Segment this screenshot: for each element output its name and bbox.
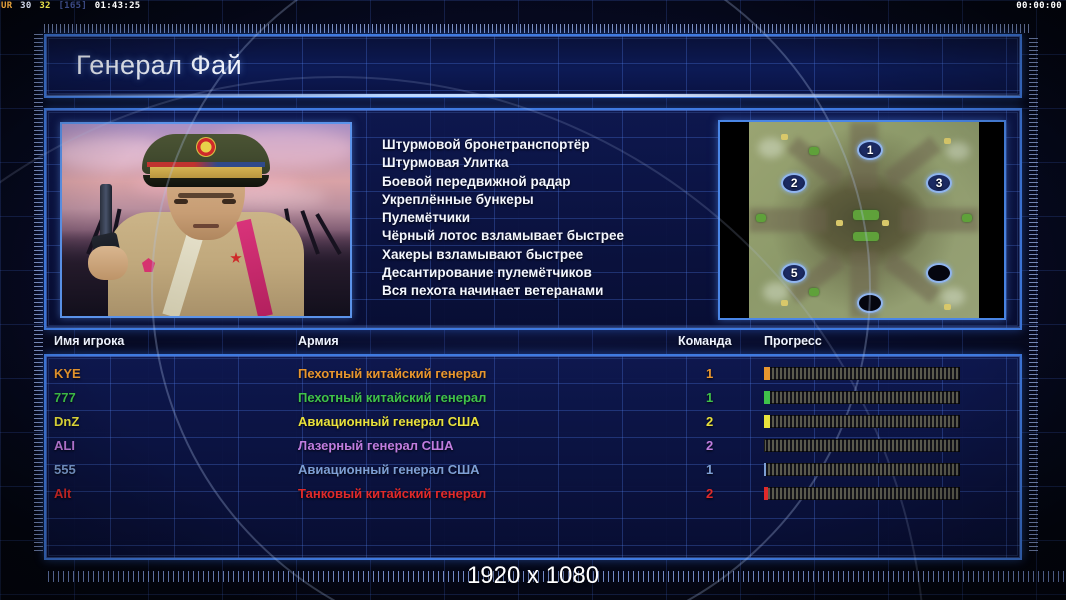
player-roster-panel: Имя игрока Армия Команда Прогресс KYEПех… (44, 354, 1022, 560)
debug-stats: UR 30 32 [165] 01:43:25 (1, 0, 143, 13)
player-army: Танковый китайский генерал (298, 482, 486, 506)
header-player-name: Имя игрока (54, 334, 124, 348)
table-row[interactable]: ALIЛазерный генерал США2 (46, 434, 1020, 458)
header-team: Команда (678, 334, 732, 348)
hand (88, 246, 128, 280)
progress-bar (764, 487, 960, 500)
general-portrait (60, 122, 352, 318)
player-team: 1 (706, 362, 713, 386)
stat-bracket: [165] (58, 1, 87, 11)
ability-item: Штурмовая Улитка (382, 154, 712, 172)
minimap[interactable]: 1235 (718, 120, 1006, 320)
table-row[interactable]: 555Авиационный генерал США1 (46, 458, 1020, 482)
table-row[interactable]: DnZАвиационный генерал США2 (46, 410, 1020, 434)
ruler-right (1029, 38, 1038, 554)
player-army: Пехотный китайский генерал (298, 386, 486, 410)
player-army: Пехотный китайский генерал (298, 362, 486, 386)
table-row[interactable]: AltТанковый китайский генерал2 (46, 482, 1020, 506)
cap-band (150, 167, 262, 178)
eye-right (222, 199, 236, 204)
match-timer: 00:00:00 (1016, 0, 1062, 13)
progress-bar (764, 367, 960, 380)
player-army: Лазерный генерал США (298, 434, 453, 458)
player-team: 2 (706, 434, 713, 458)
mouth (193, 224, 219, 228)
ability-item: Боевой передвижной радар (382, 173, 712, 191)
session-clock: 01:43:25 (95, 1, 141, 11)
minimap-start-position[interactable] (926, 263, 952, 283)
progress-bar (764, 463, 960, 476)
minimap-start-position[interactable]: 3 (926, 173, 952, 193)
brow (178, 193, 234, 198)
top-status-bar: UR 30 32 [165] 01:43:25 00:00:00 (0, 0, 1066, 13)
minimap-start-position[interactable] (857, 293, 883, 313)
roster-column-headers: Имя игрока Армия Команда Прогресс (46, 334, 1020, 354)
player-team: 2 (706, 410, 713, 434)
progress-bar (764, 439, 960, 452)
header-progress: Прогресс (764, 334, 822, 348)
ability-item: Вся пехота начинает ветеранами (382, 282, 712, 300)
ability-item: Укреплённые бункеры (382, 191, 712, 209)
progress-bar-fill (764, 391, 770, 404)
player-name: ALI (54, 434, 75, 458)
player-name: 777 (54, 386, 76, 410)
title-underline (46, 94, 1020, 97)
progress-bar-fill (764, 487, 768, 500)
stat-value-2: 32 (39, 1, 50, 11)
ability-item: Пулемётчики (382, 209, 712, 227)
ability-item: Хакеры взламывают быстрее (382, 246, 712, 264)
resolution-label: 1920 x 1080 (0, 562, 1066, 590)
table-row[interactable]: 777Пехотный китайский генерал1 (46, 386, 1020, 410)
player-army: Авиационный генерал США (298, 458, 480, 482)
player-team: 1 (706, 386, 713, 410)
progress-bar-fill (764, 415, 770, 428)
cap-badge-icon (196, 137, 216, 157)
minimap-start-position[interactable]: 1 (857, 140, 883, 160)
app-root: UR 30 32 [165] 01:43:25 00:00:00 Генерал… (0, 0, 1066, 600)
player-name: Alt (54, 482, 71, 506)
minimap-terrain[interactable]: 1235 (749, 122, 979, 318)
roster-rows: KYEПехотный китайский генерал1777Пехотны… (46, 362, 1020, 506)
main-frame: Генерал Фай (34, 24, 1032, 570)
ability-item: Десантирование пулемётчиков (382, 264, 712, 282)
stat-value-1: 30 (20, 1, 31, 11)
player-name: KYE (54, 362, 81, 386)
progress-bar-fill (764, 463, 766, 476)
minimap-start-position[interactable]: 2 (781, 173, 807, 193)
ability-item: Чёрный лотос взламывает быстрее (382, 227, 712, 245)
general-info-panel: Штурмовой бронетранспортёр Штурмовая Ули… (44, 108, 1022, 330)
page-title: Генерал Фай (76, 50, 242, 81)
progress-bar (764, 391, 960, 404)
abilities-list: Штурмовой бронетранспортёр Штурмовая Ули… (382, 136, 712, 301)
eye-left (174, 199, 188, 204)
player-name: 555 (54, 458, 76, 482)
player-name: DnZ (54, 410, 79, 434)
progress-bar (764, 415, 960, 428)
progress-bar-fill (764, 367, 770, 380)
ability-item: Штурмовой бронетранспортёр (382, 136, 712, 154)
player-team: 1 (706, 458, 713, 482)
player-team: 2 (706, 482, 713, 506)
ruler-top (44, 24, 1032, 33)
ruler-left (34, 34, 43, 554)
stat-tag: UR (1, 1, 12, 11)
title-panel: Генерал Фай (44, 34, 1022, 98)
header-army: Армия (298, 334, 339, 348)
player-army: Авиационный генерал США (298, 410, 480, 434)
table-row[interactable]: KYEПехотный китайский генерал1 (46, 362, 1020, 386)
